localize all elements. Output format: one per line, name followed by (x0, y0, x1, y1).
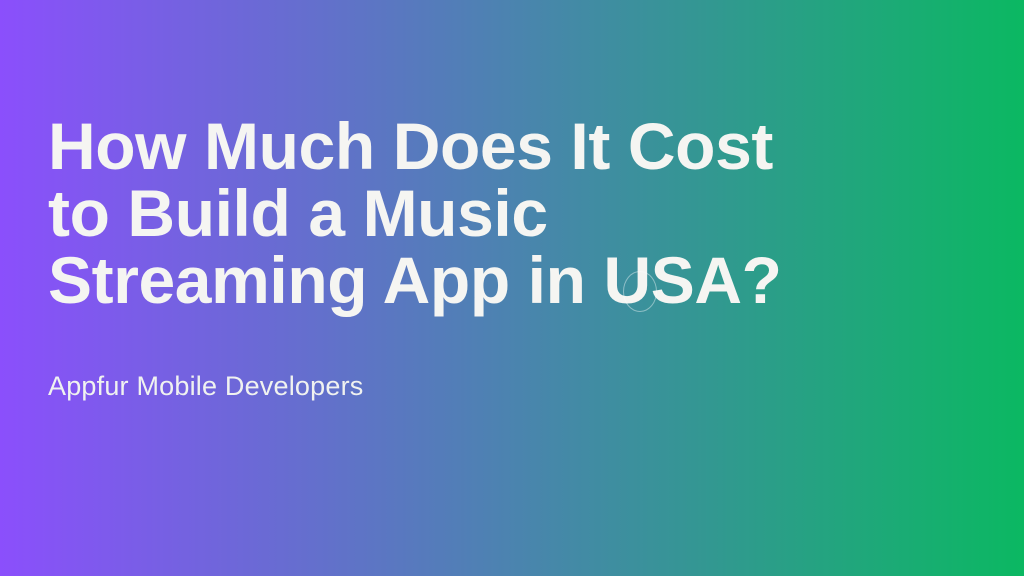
page-title: How Much Does It Cost to Build a Music S… (48, 113, 948, 314)
title-card-slide: How Much Does It Cost to Build a Music S… (0, 0, 1024, 576)
text-content-block: How Much Does It Cost to Build a Music S… (48, 0, 978, 576)
subtitle-author: Appfur Mobile Developers (48, 369, 363, 403)
